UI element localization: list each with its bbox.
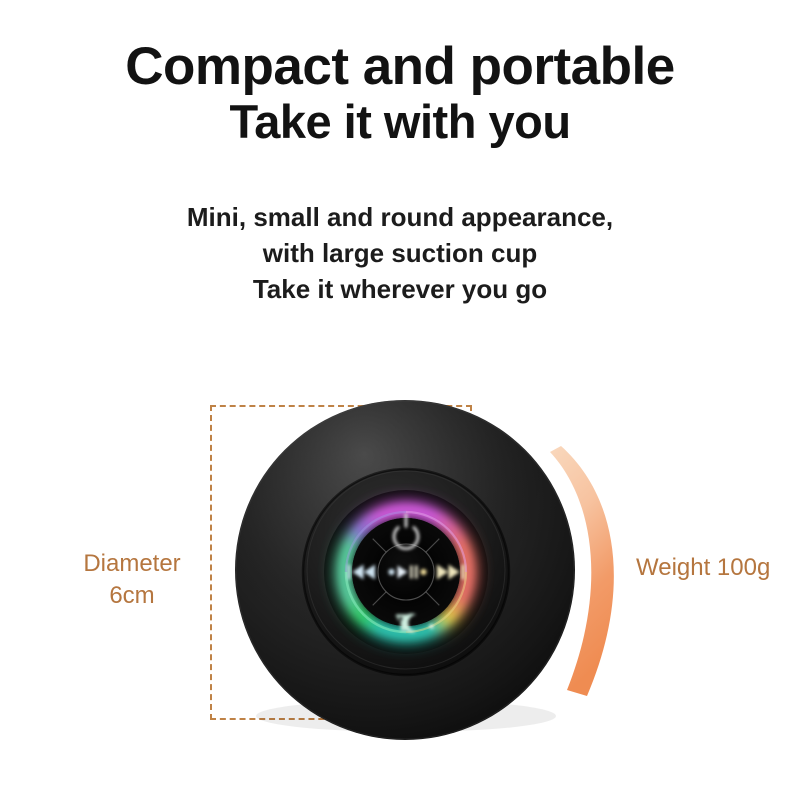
product-feature-page: Compact and portable Take it with you Mi… bbox=[0, 0, 800, 800]
diameter-label: Diameter 6cm bbox=[52, 548, 212, 611]
headline-line-2: Take it with you bbox=[0, 97, 800, 148]
diameter-label-text: Diameter bbox=[52, 548, 212, 580]
subtitle-line-3: Take it wherever you go bbox=[0, 272, 800, 308]
diameter-value-text: 6cm bbox=[52, 580, 212, 612]
headline-line-1: Compact and portable bbox=[0, 38, 800, 95]
page-title: Compact and portable Take it with you bbox=[0, 38, 800, 148]
subtitle-line-2: with large suction cup bbox=[0, 236, 800, 272]
speaker-product-image bbox=[230, 398, 580, 743]
weight-label: Weight 100g bbox=[636, 554, 770, 582]
subtitle-line-1: Mini, small and round appearance, bbox=[0, 200, 800, 236]
page-subtitle: Mini, small and round appearance, with l… bbox=[0, 200, 800, 308]
